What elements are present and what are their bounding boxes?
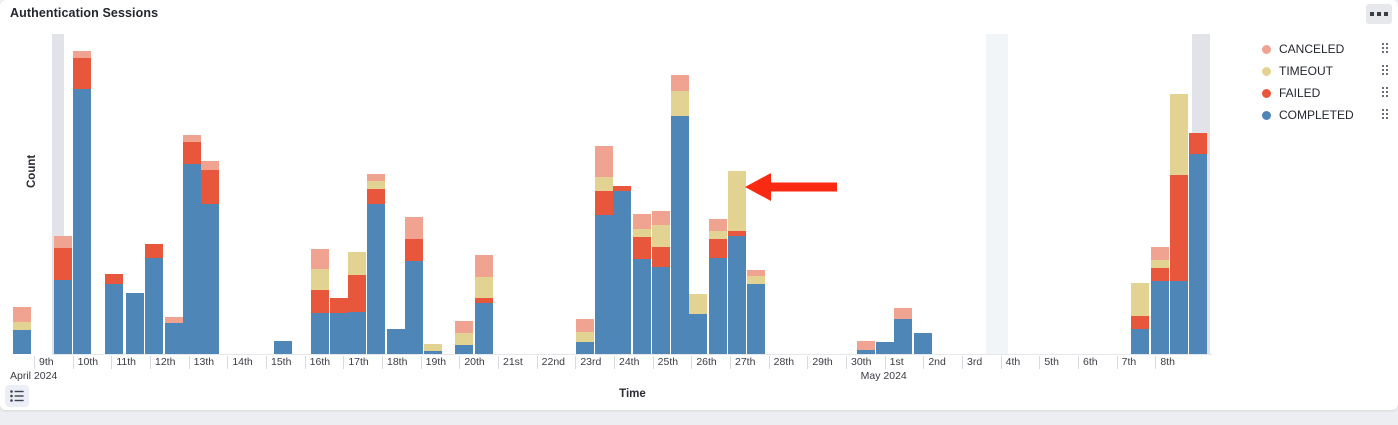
grip-dot [1382, 87, 1384, 89]
bar-segment-completed [1151, 281, 1169, 354]
bar-segment-completed [595, 215, 613, 354]
grip-dot [1386, 65, 1388, 67]
bar-26th[interactable] [728, 171, 746, 354]
bar-segment-completed [1131, 329, 1149, 354]
bar-segment-completed [689, 314, 707, 354]
x-month-label: May 2024 [857, 370, 907, 382]
grip-dot [1382, 113, 1384, 115]
bar-15th-a[interactable] [311, 249, 329, 354]
bar-segment-timeout [747, 276, 765, 284]
grip-dot [1386, 43, 1388, 45]
grip-dot [1382, 109, 1384, 111]
grip-dot [1382, 73, 1384, 75]
grip-dot [1386, 117, 1388, 119]
grip-dot [1382, 43, 1384, 45]
legend: CANCELEDTIMEOUTFAILEDCOMPLETED [1262, 38, 1398, 126]
plot-area: Count 9thApril 202410th11th12th13th14th1… [0, 28, 1398, 373]
bar-segment-timeout [728, 171, 746, 231]
bar-segment-canceled [13, 307, 31, 323]
bar-segment-completed [914, 333, 932, 354]
bar-segment-failed [405, 239, 423, 261]
bar-segment-failed [1151, 268, 1169, 282]
grip-dot [1386, 69, 1388, 71]
bar-segment-canceled [201, 161, 219, 170]
bar-segment-canceled [857, 341, 875, 350]
bar-segment-failed [54, 248, 72, 280]
bar-segment-canceled [1151, 247, 1169, 260]
x-tick-11th: 11th [111, 356, 136, 369]
bar-segment-completed [367, 204, 385, 354]
bar-segment-canceled [367, 174, 385, 182]
bar-segment-canceled [894, 308, 912, 319]
x-tick-20th: 20th [459, 356, 484, 369]
bars-container[interactable] [52, 34, 1212, 354]
bar-29th[interactable] [857, 341, 875, 354]
grip-dot [1386, 109, 1388, 111]
bar-segment-failed [1170, 175, 1188, 282]
bar-segment-timeout [652, 225, 670, 247]
bar-segment-canceled [576, 319, 594, 332]
bar-segment-completed [894, 319, 912, 354]
bar-11th-b[interactable] [145, 244, 163, 354]
bar-segment-completed [348, 312, 366, 354]
page-title: Authentication Sessions [10, 6, 158, 20]
x-tick-8th: 8th [1155, 356, 1175, 369]
bar-segment-canceled [747, 270, 765, 277]
legend-item-failed[interactable]: FAILED [1262, 82, 1398, 104]
bar-segment-failed [348, 275, 366, 313]
grip-dot [1382, 69, 1384, 71]
bar-segment-completed [671, 116, 689, 354]
x-tick-14th: 14th [227, 356, 252, 369]
grip-dot [1386, 47, 1388, 49]
bar-16th-a[interactable] [348, 252, 366, 354]
bar-segment-canceled [311, 249, 329, 268]
legend-item-timeout[interactable]: TIMEOUT [1262, 60, 1398, 82]
bar-segment-completed [1170, 281, 1188, 354]
bar-segment-completed [576, 342, 594, 354]
x-tick-13th: 13th [189, 356, 214, 369]
bar-segment-completed [145, 258, 163, 354]
bar-segment-canceled [183, 135, 201, 142]
legend-item-label: CANCELED [1279, 42, 1382, 56]
legend-swatch-icon [1262, 89, 1271, 98]
bar-segment-timeout [689, 294, 707, 314]
x-tick-22nd: 22nd [537, 356, 565, 369]
x-tick-15th: 15th [266, 356, 291, 369]
bar-22nd-a[interactable] [576, 319, 594, 354]
bar-18th[interactable] [424, 344, 442, 354]
legend-swatch-icon [1262, 111, 1271, 120]
bar-segment-timeout [709, 231, 727, 239]
bar-segment-canceled [455, 321, 473, 333]
x-tick-5th: 5th [1039, 356, 1059, 369]
drag-handle-icon[interactable] [1382, 109, 1392, 121]
bar-25th-a[interactable] [689, 294, 707, 354]
x-tick-7th: 7th [1117, 356, 1137, 369]
list-view-icon[interactable] [5, 385, 29, 407]
x-tick-28th: 28th [769, 356, 794, 369]
grip-dot [1386, 51, 1388, 53]
bar-segment-canceled [671, 75, 689, 91]
bar-11th-a[interactable] [126, 293, 144, 354]
bar-segment-timeout [576, 332, 594, 343]
bar-segment-timeout [595, 177, 613, 192]
bar-segment-completed [387, 329, 405, 354]
bar-16th-b[interactable] [367, 174, 385, 354]
bar-22nd-b[interactable] [595, 146, 613, 354]
x-month-label: April 2024 [6, 370, 57, 382]
grip-dot [1386, 95, 1388, 97]
bar-segment-timeout [475, 277, 493, 297]
bar-25th-b[interactable] [709, 219, 727, 354]
drag-handle-icon[interactable] [1382, 65, 1392, 77]
bar-30th-a[interactable] [876, 342, 894, 354]
x-axis-line [52, 354, 1212, 355]
x-tick-26th: 26th [691, 356, 716, 369]
bar-segment-completed [405, 261, 423, 354]
bar-segment-completed [183, 164, 201, 354]
bar-segment-failed [311, 290, 329, 313]
x-tick-30th: 30th [846, 356, 871, 369]
x-axis-label: Time [0, 388, 1265, 400]
y-axis-label: Count [26, 155, 38, 188]
bar-segment-completed [652, 267, 670, 354]
bar-segment-completed [105, 284, 123, 354]
bar-12th-a[interactable] [165, 317, 183, 354]
grip-dot [1386, 91, 1388, 93]
three-dots-icon[interactable] [1366, 4, 1392, 24]
bar-15th-b[interactable] [330, 298, 348, 354]
bar-segment-completed [455, 345, 473, 354]
x-tick-25th: 25th [653, 356, 678, 369]
bar-segment-completed [73, 89, 91, 354]
bar-segment-completed [165, 323, 183, 354]
bar-24th-a[interactable] [652, 211, 670, 354]
legend-item-canceled[interactable]: CANCELED [1262, 38, 1398, 60]
bar-17th-a[interactable] [387, 329, 405, 354]
x-tick-2nd: 2nd [923, 356, 946, 369]
legend-item-completed[interactable]: COMPLETED [1262, 104, 1398, 126]
legend-item-label: TIMEOUT [1279, 64, 1382, 78]
x-tick-12th: 12th [150, 356, 175, 369]
drag-handle-icon[interactable] [1382, 43, 1392, 55]
bar-segment-failed [1189, 133, 1207, 154]
bar-9th[interactable] [54, 236, 72, 354]
grip-dot [1382, 95, 1384, 97]
x-tick-29th: 29th [807, 356, 832, 369]
bar-30th-c[interactable] [914, 333, 932, 354]
bar-24th-b[interactable] [671, 75, 689, 354]
x-tick-4th: 4th [1001, 356, 1021, 369]
chart-card: Authentication Sessions Count 9thApril 2… [0, 0, 1398, 410]
bar-segment-failed [145, 244, 163, 258]
bar-segment-completed [311, 313, 329, 354]
bar-segment-completed [747, 284, 765, 354]
bar-23rd-a[interactable] [613, 186, 631, 354]
bar-segment-timeout [455, 333, 473, 346]
x-tick-24th: 24th [614, 356, 639, 369]
legend-item-label: FAILED [1279, 86, 1382, 100]
bar-segment-failed [709, 239, 727, 258]
bar-segment-canceled [405, 217, 423, 238]
bar-segment-completed [633, 259, 651, 354]
bar-segment-failed [73, 58, 91, 89]
bar-segment-completed [709, 258, 727, 354]
bar-segment-canceled [73, 51, 91, 58]
grip-dot [1382, 65, 1384, 67]
x-tick-6th: 6th [1078, 356, 1098, 369]
bar-segment-timeout [1170, 94, 1188, 174]
bar-12th-c[interactable] [201, 161, 219, 354]
bar-segment-canceled [709, 219, 727, 231]
bar-segment-timeout [424, 344, 442, 351]
x-tick-21st: 21st [498, 356, 523, 369]
bar-segment-failed [105, 274, 123, 285]
bar-30th-b[interactable] [894, 308, 912, 354]
x-tick-23rd: 23rd [575, 356, 601, 369]
highlight-band-may-3rd [986, 34, 1008, 354]
bar-segment-failed [330, 298, 348, 314]
bar-segment-timeout [348, 252, 366, 274]
bar-segment-completed [54, 280, 72, 354]
bar-10th-a[interactable] [73, 51, 91, 354]
x-tick-19th: 19th [421, 356, 446, 369]
bar-segment-completed [330, 313, 348, 354]
bar-23rd-b[interactable] [633, 214, 651, 354]
dot-2 [1377, 12, 1381, 16]
bar-segment-timeout [1131, 283, 1149, 316]
bar-segment-timeout [13, 322, 31, 330]
legend-item-label: COMPLETED [1279, 108, 1382, 122]
dot-1 [1370, 12, 1374, 16]
bar-segment-failed [1131, 316, 1149, 329]
bar-segment-completed [728, 236, 746, 354]
bar-segment-failed [595, 191, 613, 215]
bar-segment-failed [633, 237, 651, 259]
x-tick-9th: 9th [34, 356, 54, 369]
bar-segment-failed [367, 189, 385, 204]
x-tick-27th: 27th [730, 356, 755, 369]
screenshot-root: Authentication Sessions Count 9thApril 2… [0, 0, 1398, 425]
x-tick-17th: 17th [343, 356, 368, 369]
dot-3 [1384, 12, 1388, 16]
bar-segment-failed [652, 247, 670, 266]
legend-swatch-icon [1262, 67, 1271, 76]
bar-8th-partial[interactable] [13, 307, 31, 354]
x-tick-10th: 10th [73, 356, 98, 369]
bar-segment-timeout [367, 181, 385, 189]
x-tick-3rd: 3rd [962, 356, 982, 369]
bar-7th-a[interactable] [1131, 283, 1149, 354]
grip-dot [1382, 117, 1384, 119]
bar-segment-completed [475, 303, 493, 354]
bar-segment-completed [274, 341, 292, 354]
bar-segment-canceled [595, 146, 613, 177]
grip-dot [1382, 91, 1384, 93]
grip-dot [1382, 51, 1384, 53]
list-glyph [10, 390, 24, 402]
grip-dot [1386, 113, 1388, 115]
bar-segment-canceled [54, 236, 72, 249]
bar-8th-a[interactable] [1170, 94, 1188, 354]
bar-segment-completed [13, 330, 31, 354]
bar-19th-b[interactable] [475, 255, 493, 354]
bar-14th[interactable] [274, 341, 292, 354]
bar-segment-completed [876, 342, 894, 354]
bar-segment-timeout [633, 229, 651, 237]
bar-segment-canceled [652, 211, 670, 226]
grip-dot [1386, 87, 1388, 89]
bar-segment-failed [201, 170, 219, 204]
grip-dot [1386, 73, 1388, 75]
x-tick-18th: 18th [382, 356, 407, 369]
bar-10th-b[interactable] [105, 274, 123, 354]
bar-8th-b[interactable] [1189, 133, 1207, 354]
drag-handle-icon[interactable] [1382, 87, 1392, 99]
bar-segment-completed [613, 191, 631, 354]
bar-segment-completed [126, 293, 144, 354]
legend-swatch-icon [1262, 45, 1271, 54]
bar-17th-b[interactable] [405, 217, 423, 354]
bar-7th-b[interactable] [1151, 247, 1169, 354]
bar-segment-completed [1189, 154, 1207, 354]
x-tick-1st: 1st [885, 356, 904, 369]
x-tick-16th: 16th [305, 356, 330, 369]
bar-segment-completed [201, 204, 219, 354]
bar-19th-a[interactable] [455, 321, 473, 354]
bar-segment-timeout [671, 91, 689, 116]
bar-segment-timeout [1151, 260, 1169, 268]
grip-dot [1382, 47, 1384, 49]
bar-segment-canceled [633, 214, 651, 229]
bar-27th[interactable] [747, 270, 765, 354]
bar-segment-timeout [311, 269, 329, 290]
bar-12th-b[interactable] [183, 135, 201, 354]
bar-segment-failed [183, 142, 201, 164]
bar-segment-canceled [475, 255, 493, 277]
